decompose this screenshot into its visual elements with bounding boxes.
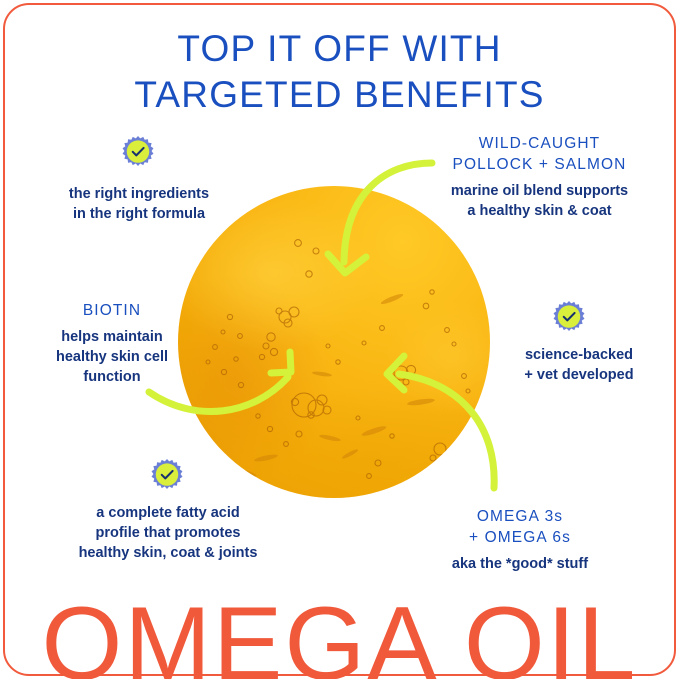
callout-fatty-acid: a complete fatty acid profile that promo… xyxy=(28,503,308,563)
callout-omega-heading-2: + OMEGA 6s xyxy=(396,527,644,548)
page-title: TOP IT OFF WITH TARGETED BENEFITS xyxy=(0,26,679,117)
oil-bubbles-layer xyxy=(178,186,490,498)
check-icon xyxy=(552,300,586,334)
callout-ingredients: the right ingredients in the right formu… xyxy=(18,184,260,224)
oil-circle-container xyxy=(178,186,490,498)
callout-wild-caught-line-1: marine oil blend supports xyxy=(400,181,679,201)
page-title-line-2: TARGETED BENEFITS xyxy=(0,72,679,118)
infographic-canvas: TOP IT OFF WITH TARGETED BENEFITS the ri… xyxy=(0,0,679,679)
callout-science-line-2: + vet developed xyxy=(479,365,679,385)
check-badge-science xyxy=(552,300,586,334)
callout-omega-line-1: aka the *good* stuff xyxy=(396,554,644,574)
callout-science-backed: science-backed + vet developed xyxy=(479,345,679,385)
callout-science-line-1: science-backed xyxy=(479,345,679,365)
callout-wild-caught: WILD-CAUGHT POLLOCK + SALMON marine oil … xyxy=(400,133,679,221)
callout-fatty-line-2: profile that promotes xyxy=(28,523,308,543)
callout-biotin-line-1: helps maintain xyxy=(6,327,218,347)
page-title-line-1: TOP IT OFF WITH xyxy=(0,26,679,72)
callout-fatty-line-1: a complete fatty acid xyxy=(28,503,308,523)
check-badge-fatty-acid xyxy=(150,458,184,492)
callout-ingredients-line-1: the right ingredients xyxy=(18,184,260,204)
callout-fatty-line-3: healthy skin, coat & joints xyxy=(28,543,308,563)
callout-wild-caught-heading-2: POLLOCK + SALMON xyxy=(400,154,679,175)
check-icon xyxy=(150,458,184,492)
omega-oil-wordmark: OMEGA OIL xyxy=(0,592,679,679)
callout-omega-heading-1: OMEGA 3s xyxy=(396,506,644,527)
callout-biotin: BIOTIN helps maintain healthy skin cell … xyxy=(6,300,218,387)
callout-biotin-line-2: healthy skin cell xyxy=(6,347,218,367)
callout-wild-caught-line-2: a healthy skin & coat xyxy=(400,201,679,221)
callout-wild-caught-heading-1: WILD-CAUGHT xyxy=(400,133,679,154)
check-badge-ingredients xyxy=(121,135,155,169)
callout-biotin-heading: BIOTIN xyxy=(6,300,218,321)
callout-ingredients-line-2: in the right formula xyxy=(18,204,260,224)
callout-omega: OMEGA 3s + OMEGA 6s aka the *good* stuff xyxy=(396,506,644,574)
omega-oil-droplet-photo xyxy=(178,186,490,498)
callout-biotin-line-3: function xyxy=(6,367,218,387)
check-icon xyxy=(121,135,155,169)
